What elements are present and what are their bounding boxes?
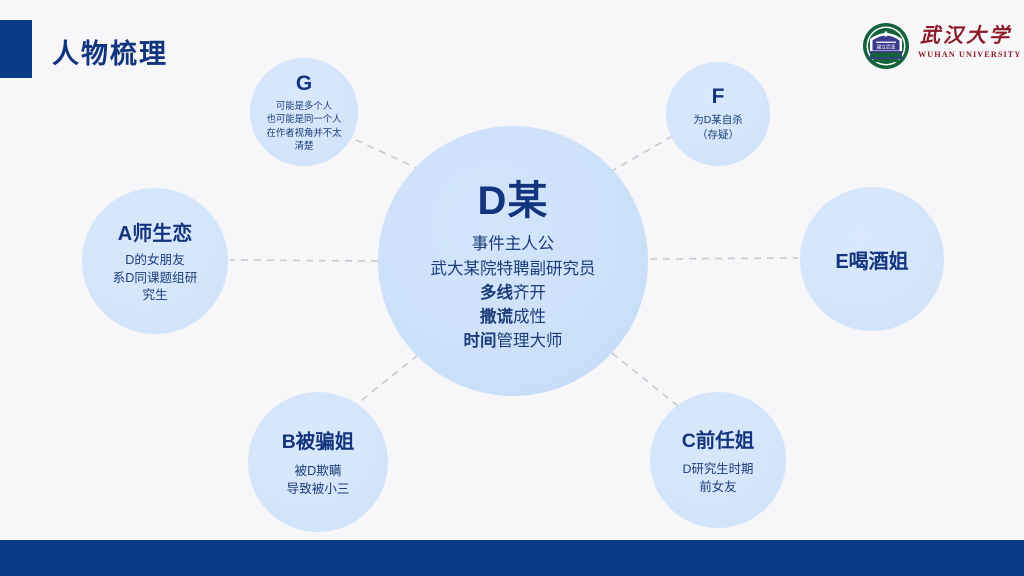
- node-b[interactable]: B被骗姐 被D欺瞒 导致被小三: [248, 392, 388, 532]
- node-d-desc-line: 多线齐开: [431, 281, 596, 305]
- node-f-desc-line: （存疑）: [693, 128, 743, 143]
- node-a-description: D的女朋友 系D同课题组研 究生: [113, 252, 198, 306]
- node-g[interactable]: G 可能是多个人 也可能是同一个人 在作者视角并不太 清楚: [250, 58, 358, 166]
- node-a-desc-line: D的女朋友: [113, 252, 198, 270]
- title-accent-bar: [0, 20, 32, 78]
- logo-name-cn: 武汉大学: [918, 24, 1014, 48]
- slide-canvas: 人物梳理 國立武漢 武汉大学 WUHAN UNIVERSITY: [0, 0, 1024, 576]
- node-d-desc-line: 撒谎成性: [431, 305, 596, 329]
- node-c[interactable]: C前任姐 D研究生时期 前女友: [650, 392, 786, 528]
- node-e[interactable]: E喝酒姐: [800, 187, 944, 331]
- node-g-desc-line: 清楚: [266, 139, 341, 152]
- node-a-desc-line: 究生: [113, 287, 198, 305]
- connector-d-to-a: [230, 260, 378, 261]
- node-c-description: D研究生时期 前女友: [683, 461, 754, 496]
- node-f[interactable]: F 为D某自杀 （存疑）: [666, 62, 770, 166]
- node-b-title: B被骗姐: [282, 425, 355, 454]
- node-a[interactable]: A师生恋 D的女朋友 系D同课题组研 究生: [82, 188, 228, 334]
- node-e-title: E喝酒姐: [835, 245, 908, 274]
- connector-d-to-e: [650, 258, 798, 259]
- node-b-description: 被D欺瞒 导致被小三: [287, 463, 350, 499]
- node-d[interactable]: D某 事件主人公 武大某院特聘副研究员 多线齐开 撒谎成性 时间管理大师: [378, 126, 648, 396]
- page-title: 人物梳理: [52, 32, 168, 71]
- node-c-desc-line: 前女友: [683, 479, 754, 497]
- node-d-title: D某: [478, 168, 549, 226]
- node-b-desc-line: 被D欺瞒: [287, 463, 350, 481]
- node-f-desc-line: 为D某自杀: [693, 113, 743, 128]
- node-a-title: A师生恋: [118, 217, 192, 246]
- wuhan-university-emblem-icon: 國立武漢: [862, 22, 910, 70]
- node-a-desc-line: 系D同课题组研: [113, 270, 198, 288]
- node-d-description: 事件主人公 武大某院特聘副研究员 多线齐开 撒谎成性 时间管理大师: [431, 232, 596, 353]
- svg-text:國立武漢: 國立武漢: [877, 43, 896, 50]
- node-g-description: 可能是多个人 也可能是同一个人 在作者视角并不太 清楚: [266, 99, 341, 152]
- node-c-desc-line: D研究生时期: [683, 461, 754, 479]
- connector-d-to-b: [352, 355, 418, 408]
- node-g-title: G: [296, 72, 312, 96]
- node-c-title: C前任姐: [682, 424, 755, 453]
- node-g-desc-line: 也可能是同一个人: [266, 112, 341, 125]
- node-f-title: F: [712, 85, 725, 109]
- connector-d-to-c: [612, 353, 678, 406]
- logo-name-en: WUHAN UNIVERSITY: [918, 49, 1014, 60]
- node-d-desc-line: 时间管理大师: [431, 329, 596, 353]
- node-d-desc-line: 事件主人公: [431, 232, 596, 256]
- node-b-desc-line: 导致被小三: [287, 481, 350, 499]
- node-g-desc-line: 可能是多个人: [266, 99, 341, 112]
- node-f-description: 为D某自杀 （存疑）: [693, 113, 743, 142]
- footer-bar: [0, 540, 1024, 576]
- wuhan-university-logo: 國立武漢 武汉大学 WUHAN UNIVERSITY: [862, 22, 1012, 74]
- node-g-desc-line: 在作者视角并不太: [266, 126, 341, 139]
- logo-text-block: 武汉大学 WUHAN UNIVERSITY: [918, 24, 1014, 60]
- node-d-desc-line: 武大某院特聘副研究员: [431, 257, 596, 281]
